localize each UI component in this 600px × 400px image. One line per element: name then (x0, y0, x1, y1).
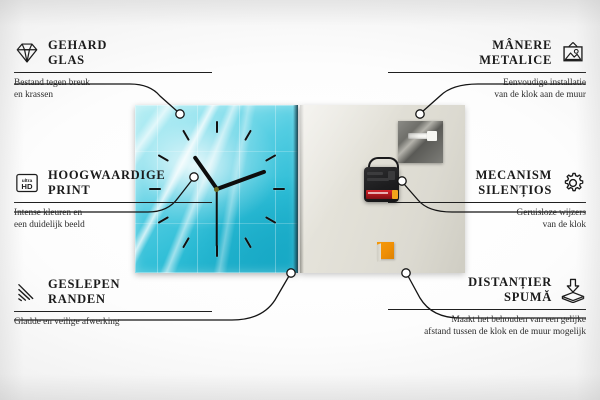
callout-title-line2: SILENȚIOS (478, 183, 552, 198)
bevelled-edges-icon (14, 279, 40, 305)
callout-subtitle-line1: Eenvoudige installatie (388, 77, 586, 89)
callout-hoogwaardige-print: ultra HD HOOGWAARDIGE PRINT Intense kleu… (14, 168, 212, 231)
callout-title-line1: GEHARD (48, 38, 107, 53)
infographic-canvas: GEHARD GLAS Bestand tegen breuk en krass… (0, 0, 600, 400)
diamond-icon (14, 40, 40, 66)
callout-divider (14, 202, 212, 203)
callout-title-line1: MÂNERE (492, 38, 552, 53)
callout-manere-metalice: MÂNERE METALICE Eenvoudige installatie v… (388, 38, 586, 101)
foam-spacer-arrow-icon (560, 277, 586, 303)
callout-divider (388, 202, 586, 203)
callout-subtitle-line1: Intense kleuren en (14, 207, 212, 219)
callout-title-line2: RANDEN (48, 292, 120, 307)
svg-text:HD: HD (21, 182, 33, 191)
callout-divider (14, 72, 212, 73)
callout-title-line2: METALICE (479, 53, 552, 68)
glass-right-edge (293, 105, 298, 273)
callout-title-line2: PRINT (48, 183, 165, 198)
callout-subtitle-line1: Maakt het behouden van een gelijke (388, 314, 586, 326)
callout-title-line1: MECANISM (476, 168, 552, 183)
callout-subtitle-line2: en krassen (14, 89, 212, 101)
ultra-hd-icon: ultra HD (14, 170, 40, 196)
callout-divider (388, 309, 586, 310)
callout-gehard-glas: GEHARD GLAS Bestand tegen breuk en krass… (14, 38, 212, 101)
gear-icon (560, 170, 586, 196)
callout-subtitle-line2: een duidelijk beeld (14, 219, 212, 231)
callout-distantier-spuma: DISTANȚIER SPUMĂ Maakt het behouden van … (388, 275, 586, 338)
callout-subtitle-line2: afstand tussen de klok en de muur mogeli… (388, 326, 586, 338)
callout-title-line2: SPUMĂ (504, 290, 552, 305)
callout-title-line1: GESLEPEN (48, 277, 120, 292)
callout-title-line1: HOOGWAARDIGE (48, 168, 165, 183)
callout-divider (388, 72, 586, 73)
callout-subtitle-line1: Geruisloze wijzers (388, 207, 586, 219)
callout-subtitle-line1: Gladde en veilige afwerking (14, 316, 212, 328)
callout-mecanism-silentios: MECANISM SILENȚIOS Geruisloze wijzers va… (388, 168, 586, 231)
callout-title-line2: GLAS (48, 53, 107, 68)
callout-title-line1: DISTANȚIER (468, 275, 552, 290)
callout-subtitle-line2: van de klok (388, 219, 586, 231)
callout-divider (14, 311, 212, 312)
callout-subtitle-line2: van de klok aan de muur (388, 89, 586, 101)
callout-subtitle-line1: Bestand tegen breuk (14, 77, 212, 89)
callout-geslepen-randen: GESLEPEN RANDEN Gladde en veilige afwerk… (14, 277, 212, 328)
hanging-picture-frame-icon (560, 40, 586, 66)
